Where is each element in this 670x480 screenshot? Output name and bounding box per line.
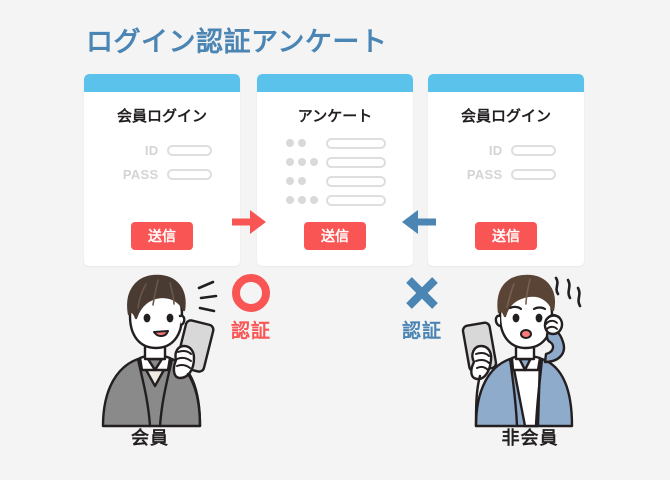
form-row-id: ID (84, 140, 240, 160)
dot (298, 158, 306, 166)
survey-row (257, 174, 413, 188)
dot (286, 139, 294, 147)
field-label-pass: PASS (457, 167, 503, 182)
cross-mark-icon (385, 271, 459, 315)
form-row-pass: PASS (428, 164, 584, 184)
field-label-id: ID (113, 143, 159, 158)
page-title: ログイン認証アンケート (86, 20, 387, 59)
person-with-phone-happy-icon (80, 266, 230, 446)
verdict-rejected: 認証 (385, 271, 459, 343)
card-header-bar (428, 74, 584, 92)
card-login-nonmember: 会員ログイン ID PASS 送信 (428, 74, 584, 266)
submit-button[interactable]: 送信 (475, 222, 537, 250)
survey-answer-input[interactable] (326, 176, 386, 187)
person-label-nonmember: 非会員 (450, 424, 610, 450)
verdict-label: 認証 (385, 316, 459, 343)
person-label-member: 会員 (70, 424, 230, 450)
survey-answer-input[interactable] (326, 138, 386, 149)
dot (310, 158, 318, 166)
survey-row (257, 136, 413, 150)
survey-answer-input[interactable] (326, 157, 386, 168)
arrow-right-icon (230, 205, 270, 239)
survey-question-dots (286, 139, 326, 147)
pass-input[interactable] (167, 169, 212, 180)
form-row-pass: PASS (84, 164, 240, 184)
card-title: 会員ログイン (428, 105, 584, 126)
card-title: アンケート (257, 105, 413, 126)
submit-button[interactable]: 送信 (131, 222, 193, 250)
dot (310, 196, 318, 204)
submit-button[interactable]: 送信 (304, 222, 366, 250)
pass-input[interactable] (511, 169, 556, 180)
card-header-bar (257, 74, 413, 92)
survey-question-dots (286, 158, 326, 166)
form-row-id: ID (428, 140, 584, 160)
diagram-canvas: ログイン認証アンケート 会員ログイン ID PASS 送信 アンケート (0, 0, 670, 480)
field-label-pass: PASS (113, 167, 159, 182)
dot (298, 139, 306, 147)
login-form: ID PASS (428, 140, 584, 188)
login-form: ID PASS (84, 140, 240, 188)
card-header-bar (84, 74, 240, 92)
card-survey: アンケート (257, 74, 413, 266)
arrow-left-icon (398, 205, 438, 239)
survey-form (257, 136, 413, 212)
card-title: 会員ログイン (84, 105, 240, 126)
id-input[interactable] (511, 145, 556, 156)
dot (298, 177, 306, 185)
id-input[interactable] (167, 145, 212, 156)
dot (286, 177, 294, 185)
field-label-id: ID (457, 143, 503, 158)
card-login-member: 会員ログイン ID PASS 送信 (84, 74, 240, 266)
survey-answer-input[interactable] (326, 195, 386, 206)
survey-row (257, 155, 413, 169)
dot (286, 158, 294, 166)
dot (286, 196, 294, 204)
survey-row (257, 193, 413, 207)
survey-question-dots (286, 177, 326, 185)
survey-question-dots (286, 196, 326, 204)
person-with-phone-confused-icon (450, 266, 600, 446)
dot (298, 196, 306, 204)
